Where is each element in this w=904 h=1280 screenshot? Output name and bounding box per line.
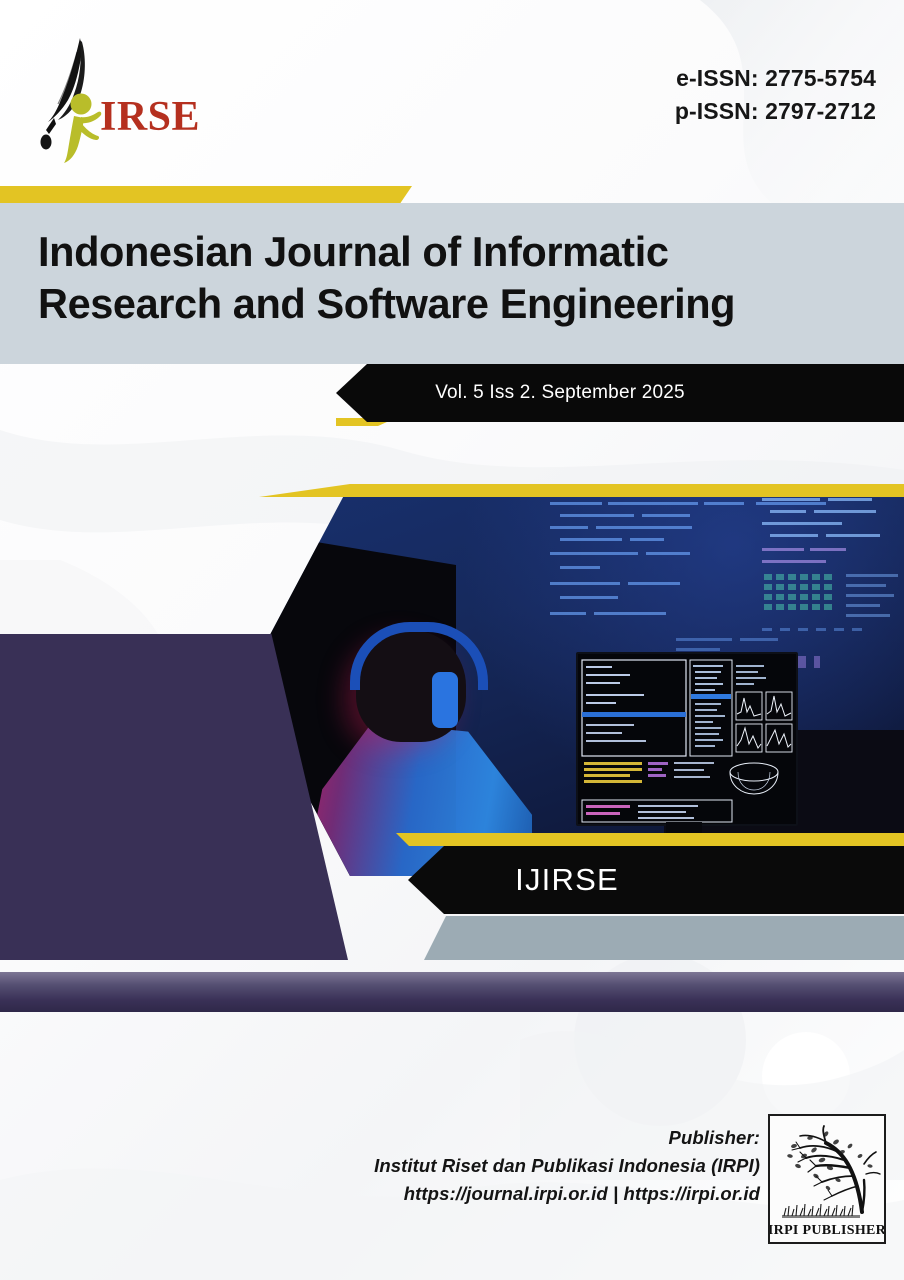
gray-blue-accent-bar [424,916,904,960]
cover-photo [246,484,904,876]
issn-block: e-ISSN: 2775-5754 p-ISSN: 2797-2712 [675,62,876,127]
publisher-logo-caption: IRPI PUBLISHER [770,1223,884,1238]
publisher-label: Publisher: [374,1124,760,1152]
journal-logo: IRSE [34,26,214,166]
publisher-logo: IRPI PUBLISHER [768,1114,886,1244]
purple-divider-bar [0,972,904,1012]
e-issn: e-ISSN: 2775-5754 [675,62,876,95]
publisher-urls[interactable]: https://journal.irpi.or.id | https://irp… [374,1180,760,1208]
yellow-accent-bar-top [0,186,412,203]
acronym-banner-text: IJIRSE [408,846,904,914]
volume-banner: Vol. 5 Iss 2. September 2025 [336,364,904,422]
human-figure-icon [64,94,101,164]
title-line-1: Indonesian Journal of Informatic [38,226,884,278]
volume-banner-text: Vol. 5 Iss 2. September 2025 [336,364,904,422]
publisher-block: Publisher: Institut Riset dan Publikasi … [374,1124,760,1208]
title-line-2: Research and Software Engineering [38,278,884,330]
logo-wordmark: IRSE [100,94,200,140]
acronym-banner: IJIRSE [408,846,904,914]
cover-photo-image [246,484,904,876]
publisher-name: Institut Riset dan Publikasi Indonesia (… [374,1152,760,1180]
monitor-screen [576,652,798,826]
journal-cover: IRSE e-ISSN: 2775-5754 p-ISSN: 2797-2712… [0,0,904,1280]
photo-yellow-edge-top [246,484,904,497]
headphone-earcup [432,672,458,728]
p-issn: p-ISSN: 2797-2712 [675,95,876,128]
page-title: Indonesian Journal of Informatic Researc… [38,226,884,331]
